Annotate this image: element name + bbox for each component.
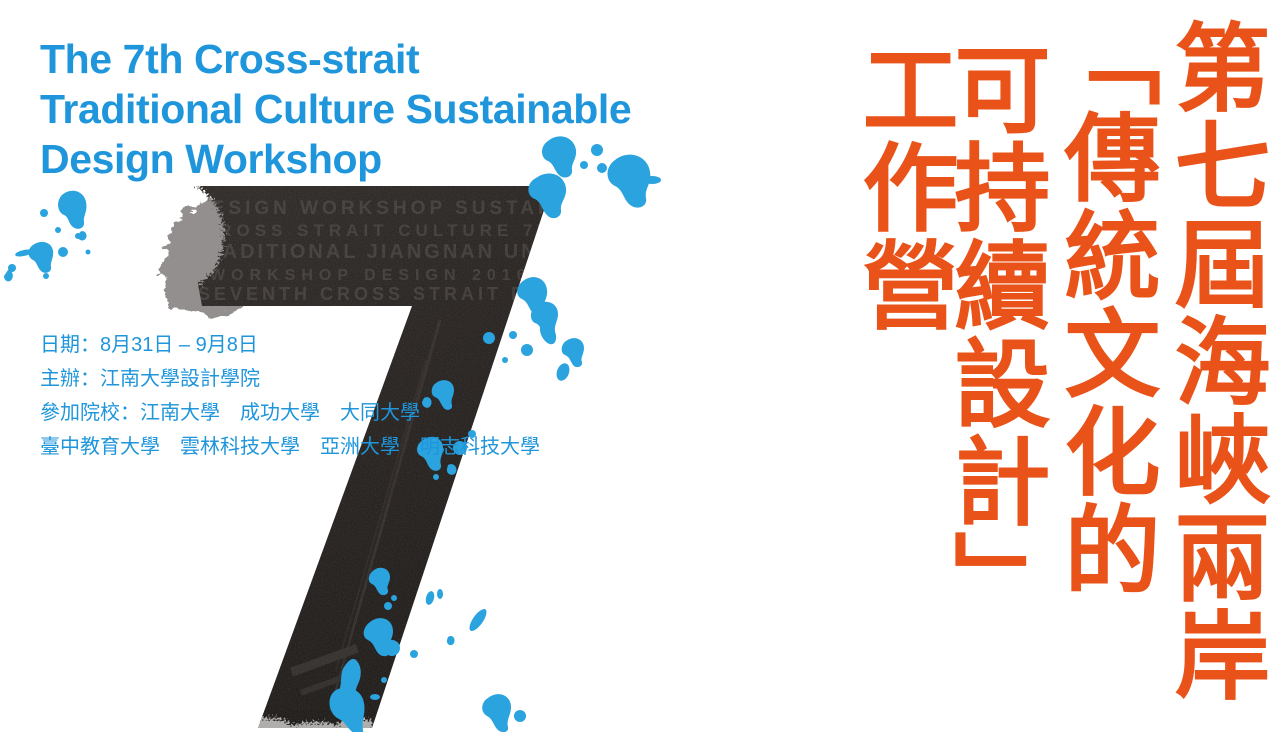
participants-line-2: 臺中教育大學 雲林科技大學 亞洲大學 明志科技大學 — [40, 430, 640, 464]
chinese-title-column-3: 可持續設計」 — [946, 40, 1042, 628]
chinese-title-column-1: 第七屆海峽兩岸 — [1166, 18, 1262, 704]
participants-line-1: 參加院校：江南大學 成功大學 大同大學 — [40, 396, 640, 430]
event-details-block: 日期：8月31日 – 9月8日 主辦：江南大學設計學院 參加院校：江南大學 成功… — [40, 328, 640, 464]
page-title-english: The 7th Cross-strait Traditional Culture… — [40, 34, 760, 184]
event-date-line: 日期：8月31日 – 9月8日 — [40, 328, 640, 362]
poster-canvas: DESIGN WORKSHOP SUSTAIN CROSS STRAIT CUL… — [0, 0, 1280, 732]
chinese-title-column-2: 「傳統文化的 — [1056, 10, 1152, 598]
chinese-title-column-4: 工作營 — [854, 40, 950, 334]
event-organizer-line: 主辦：江南大學設計學院 — [40, 362, 640, 396]
